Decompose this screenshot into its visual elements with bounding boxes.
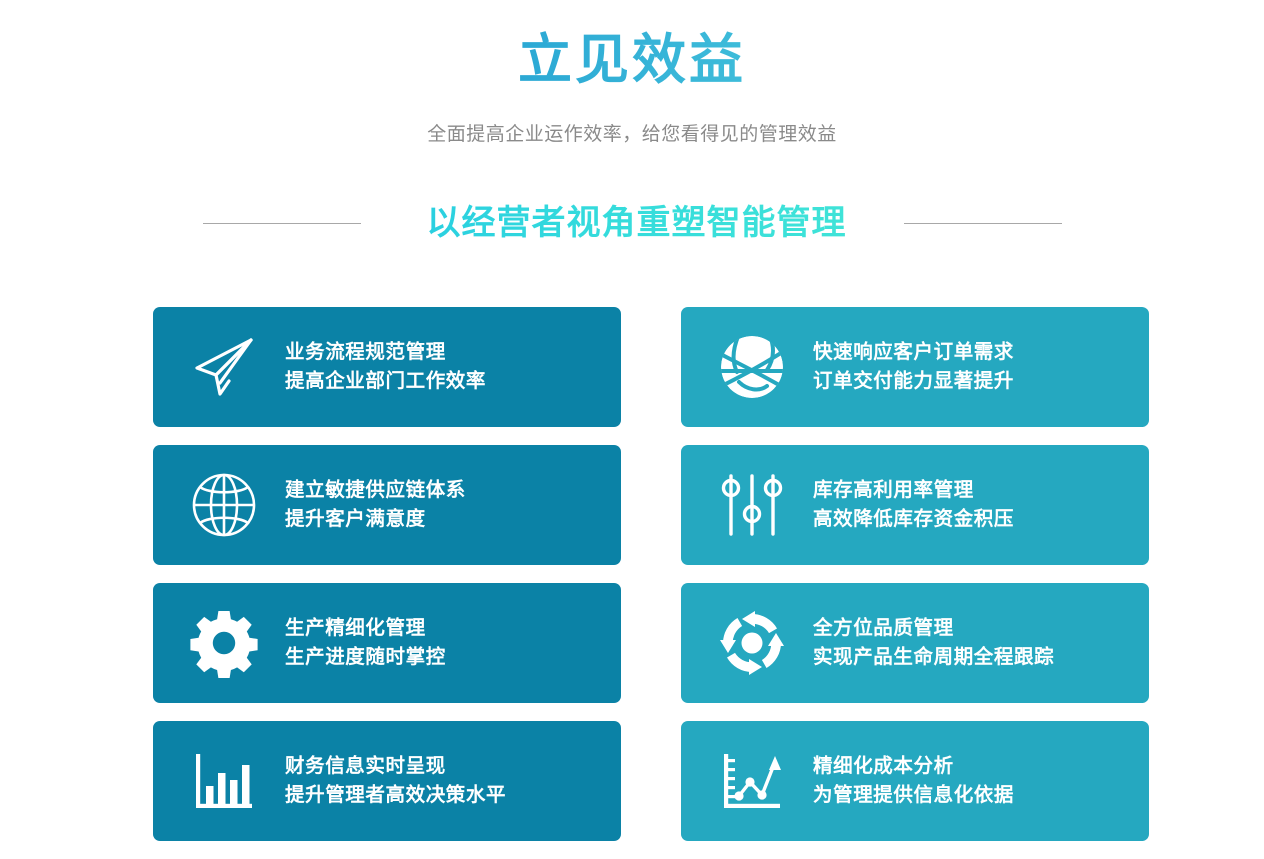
benefit-card-text: 生产精细化管理生产进度随时掌控: [285, 614, 446, 672]
benefit-card[interactable]: 全方位品质管理实现产品生命周期全程跟踪: [681, 583, 1149, 703]
benefit-card[interactable]: 快速响应客户订单需求订单交付能力显著提升: [681, 307, 1149, 427]
benefit-card-line1: 建立敏捷供应链体系: [285, 479, 466, 501]
benefit-card-text: 精细化成本分析为管理提供信息化依据: [813, 752, 1014, 810]
page-subtitle: 全面提高企业运作效率，给您看得见的管理效益: [0, 120, 1264, 150]
benefit-card-line1: 业务流程规范管理: [285, 341, 446, 363]
benefit-card-line2: 提升管理者高效决策水平: [285, 781, 506, 810]
bar-chart-icon: [187, 744, 261, 818]
benefit-card-line1: 全方位品质管理: [813, 617, 954, 639]
refresh-cycle-icon: [715, 606, 789, 680]
sliders-icon: [715, 468, 789, 542]
benefit-card-line2: 实现产品生命周期全程跟踪: [813, 643, 1054, 672]
benefit-card-text: 财务信息实时呈现提升管理者高效决策水平: [285, 752, 506, 810]
benefit-card[interactable]: 业务流程规范管理提高企业部门工作效率: [153, 307, 621, 427]
section-heading: 以经营者视角重塑智能管理: [427, 198, 847, 248]
benefit-card-text: 快速响应客户订单需求订单交付能力显著提升: [813, 338, 1014, 396]
paper-plane-icon: [187, 330, 261, 404]
benefit-card-text: 业务流程规范管理提高企业部门工作效率: [285, 338, 486, 396]
benefit-card-line2: 提升客户满意度: [285, 505, 466, 534]
line-chart-up-icon: [715, 744, 789, 818]
section-heading-row: 以经营者视角重塑智能管理: [0, 198, 1264, 248]
divider-right: [904, 223, 1062, 224]
benefit-card-line1: 生产精细化管理: [285, 617, 426, 639]
benefit-cards-grid: 业务流程规范管理提高企业部门工作效率 快速响应客户订单需求订单交付能力显著提升: [153, 307, 1149, 841]
benefit-card-line1: 精细化成本分析: [813, 755, 954, 777]
benefit-card-line2: 生产进度随时掌控: [285, 643, 446, 672]
gear-icon: [187, 606, 261, 680]
divider-left: [203, 223, 361, 224]
benefit-card-line1: 财务信息实时呈现: [285, 755, 446, 777]
benefit-card-line1: 快速响应客户订单需求: [813, 341, 1014, 363]
benefit-card-text: 库存高利用率管理高效降低库存资金积压: [813, 476, 1014, 534]
benefit-card[interactable]: 财务信息实时呈现提升管理者高效决策水平: [153, 721, 621, 841]
benefit-card-line2: 高效降低库存资金积压: [813, 505, 1014, 534]
page-title: 立见效益: [0, 26, 1264, 94]
network-globe-icon: [715, 330, 789, 404]
benefit-card[interactable]: 建立敏捷供应链体系提升客户满意度: [153, 445, 621, 565]
benefit-card[interactable]: 精细化成本分析为管理提供信息化依据: [681, 721, 1149, 841]
benefit-card-line2: 为管理提供信息化依据: [813, 781, 1014, 810]
benefit-card-line2: 提高企业部门工作效率: [285, 367, 486, 396]
benefit-card-text: 全方位品质管理实现产品生命周期全程跟踪: [813, 614, 1054, 672]
benefit-card-line2: 订单交付能力显著提升: [813, 367, 1014, 396]
benefit-card[interactable]: 库存高利用率管理高效降低库存资金积压: [681, 445, 1149, 565]
benefit-card-line1: 库存高利用率管理: [813, 479, 974, 501]
benefit-card[interactable]: 生产精细化管理生产进度随时掌控: [153, 583, 621, 703]
wireframe-globe-icon: [187, 468, 261, 542]
benefits-page: 立见效益 全面提高企业运作效率，给您看得见的管理效益 以经营者视角重塑智能管理 …: [0, 0, 1264, 859]
benefit-card-text: 建立敏捷供应链体系提升客户满意度: [285, 476, 466, 534]
